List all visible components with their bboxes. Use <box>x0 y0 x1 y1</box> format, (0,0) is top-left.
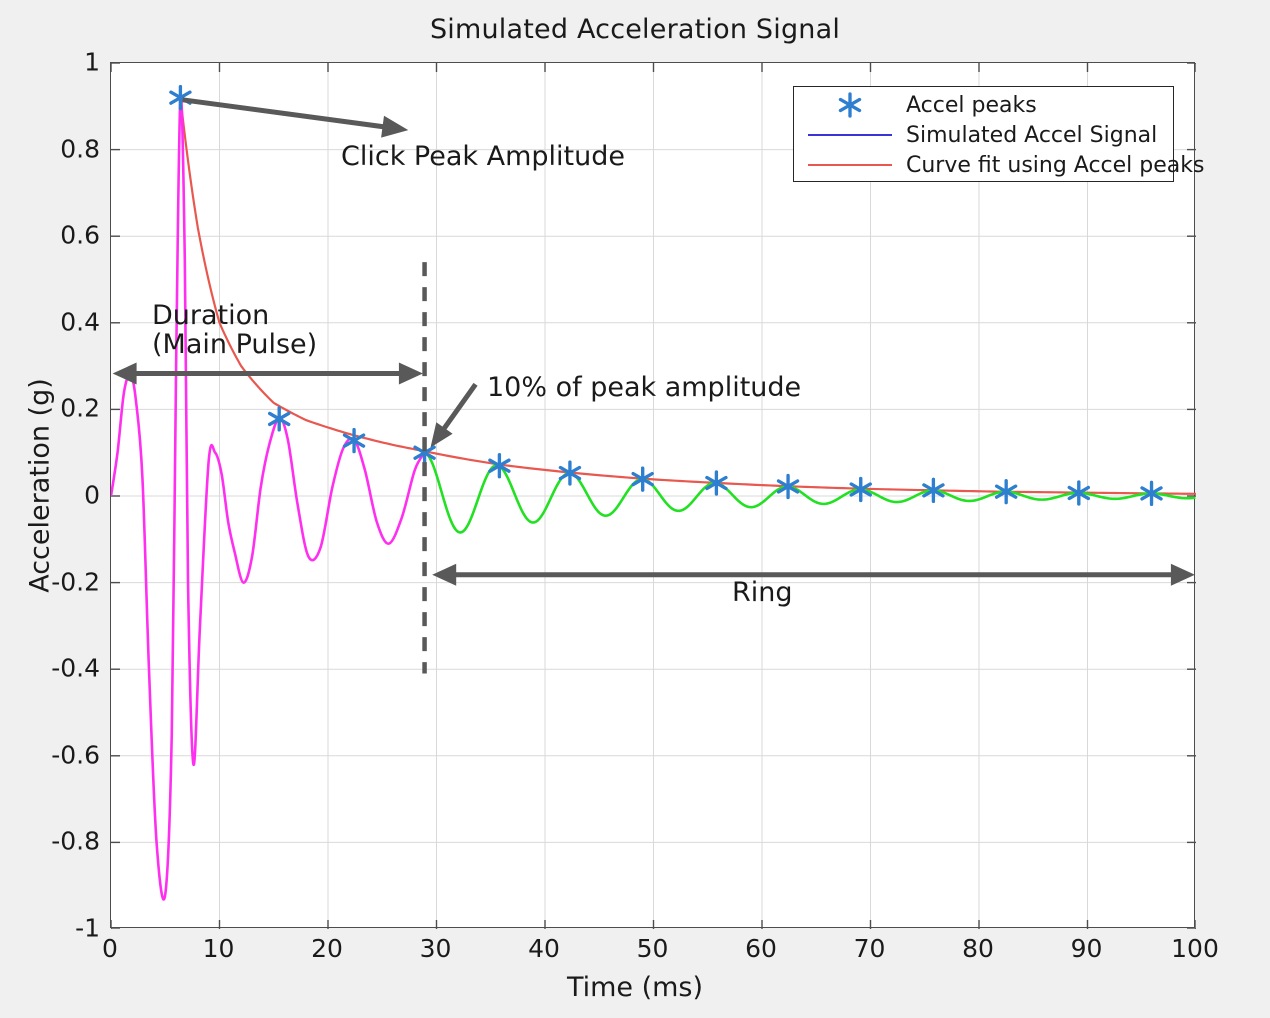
y-tick-label-5: 0 <box>4 481 100 510</box>
x-tick-label-0: 0 <box>65 934 155 963</box>
y-tick-label-7: -0.4 <box>4 654 100 683</box>
y-tick-label-0: 1 <box>4 48 100 77</box>
x-axis-label: Time (ms) <box>0 972 1270 1003</box>
legend-marker-asterisk <box>794 90 906 120</box>
simulated-signal-pulse <box>111 95 425 899</box>
annotation-ring: Ring <box>732 577 793 608</box>
page-title: Simulated Acceleration Signal <box>0 14 1270 45</box>
legend-label-2: Curve fit using Accel peaks <box>906 153 1204 178</box>
x-tick-label-3: 30 <box>391 934 481 963</box>
annotation-ten-percent: 10% of peak amplitude <box>487 372 801 403</box>
y-axis-ticks: 10.80.60.40.20-0.2-0.4-0.6-0.8-1 <box>0 62 100 928</box>
y-tick-label-8: -0.6 <box>4 740 100 769</box>
accel-peak-marker <box>171 87 190 109</box>
legend-item-simulated-signal: Simulated Accel Signal <box>794 120 1175 150</box>
legend-label-0: Accel peaks <box>906 93 1037 118</box>
chart-figure: Simulated Acceleration Signal Accelerati… <box>0 0 1270 1018</box>
x-tick-label-5: 50 <box>608 934 698 963</box>
annotation-arrow <box>431 384 476 447</box>
x-tick-label-10: 100 <box>1150 934 1240 963</box>
legend-label-1: Simulated Accel Signal <box>906 123 1157 148</box>
x-tick-label-7: 70 <box>825 934 915 963</box>
y-tick-label-2: 0.6 <box>4 221 100 250</box>
legend: Accel peaks Simulated Accel Signal Curve… <box>793 86 1174 182</box>
y-tick-label-3: 0.4 <box>4 307 100 336</box>
plot-canvas <box>111 63 1196 929</box>
legend-line-blue <box>794 120 906 150</box>
y-tick-label-9: -0.8 <box>4 827 100 856</box>
annotation-peak-amplitude: Click Peak Amplitude <box>341 141 625 172</box>
x-tick-label-6: 60 <box>716 934 806 963</box>
x-tick-label-1: 10 <box>174 934 264 963</box>
annotation-arrow <box>183 100 409 138</box>
x-tick-label-8: 80 <box>933 934 1023 963</box>
legend-item-accel-peaks: Accel peaks <box>794 90 1175 120</box>
x-tick-label-2: 20 <box>282 934 372 963</box>
annotation-duration: Duration (Main Pulse) <box>152 301 317 359</box>
annotation-duration-line2: (Main Pulse) <box>152 330 317 359</box>
x-axis-ticks: 0102030405060708090100 <box>110 934 1195 974</box>
y-tick-label-1: 0.8 <box>4 134 100 163</box>
legend-item-curve-fit: Curve fit using Accel peaks <box>794 150 1175 180</box>
annotation-arrow <box>113 363 423 385</box>
plot-area <box>110 62 1195 928</box>
x-tick-label-4: 40 <box>499 934 589 963</box>
annotation-duration-line1: Duration <box>152 301 317 330</box>
legend-line-red <box>794 150 906 180</box>
y-tick-label-6: -0.2 <box>4 567 100 596</box>
y-tick-label-4: 0.2 <box>4 394 100 423</box>
x-tick-label-9: 90 <box>1042 934 1132 963</box>
grid-lines <box>111 63 1196 929</box>
